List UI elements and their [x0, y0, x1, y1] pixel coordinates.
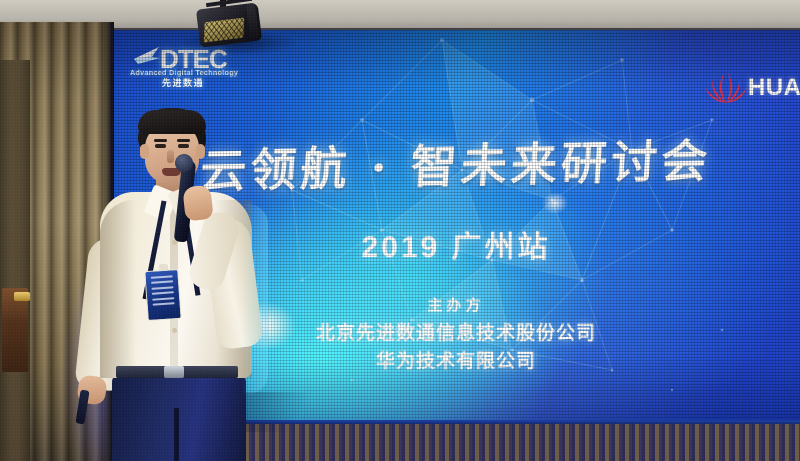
dtec-swoosh-icon — [132, 45, 162, 67]
speaker-trousers — [112, 374, 246, 461]
speaker-figure — [60, 108, 290, 461]
trouser-seam — [174, 408, 179, 461]
dtec-chinese-name: 先进数通 — [162, 76, 204, 89]
huawei-petal-icon — [704, 70, 748, 104]
door-handle-icon — [2, 288, 28, 372]
huawei-wordmark: HUA — [748, 74, 800, 102]
speaker-hand-holding-mic — [182, 185, 213, 222]
conference-stage-screenshot: DTEC Advanced Digital Technology 先进数通 HU… — [0, 0, 800, 461]
speaker-eye-right — [178, 144, 189, 148]
speaker-nose — [167, 150, 174, 163]
speaker-eyebrow-right — [177, 139, 190, 142]
conference-badge — [144, 269, 181, 321]
speaker-fringe — [138, 110, 206, 134]
speaker-ear-left — [140, 144, 149, 159]
shirt-button — [172, 328, 177, 333]
stage-spotlight-fixture — [196, 0, 274, 54]
light-speck — [542, 192, 568, 214]
shirt-shadow-left — [100, 200, 136, 378]
belt-buckle — [164, 366, 184, 378]
huawei-logo: HUA — [704, 68, 800, 110]
door-panel — [0, 60, 30, 461]
speaker-eye-left — [155, 144, 166, 148]
badge-text-lines — [151, 275, 176, 314]
speaker-eyebrow-left — [154, 139, 167, 142]
speaker-ear-right — [196, 144, 205, 159]
